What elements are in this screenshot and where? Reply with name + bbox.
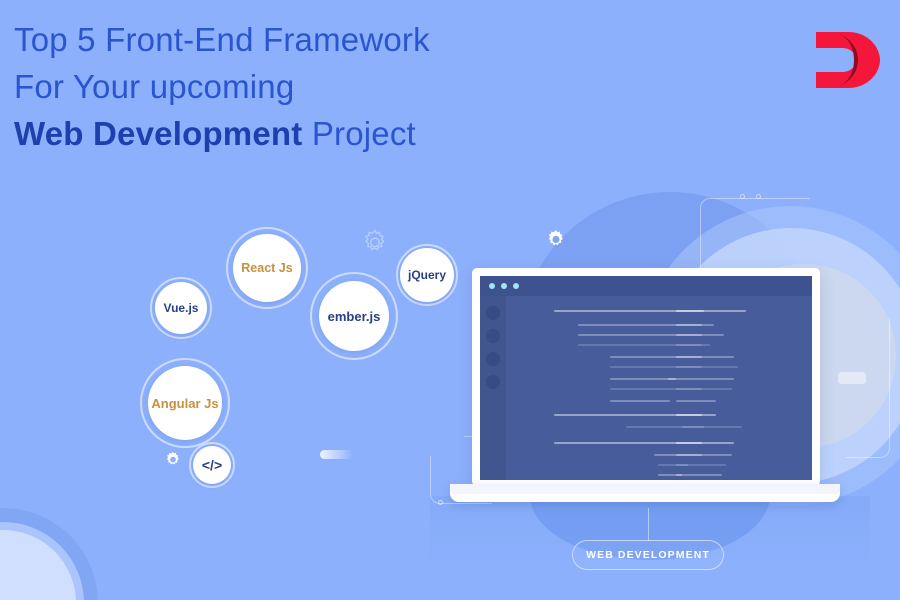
code-symbol-bubble[interactable]: </>	[193, 446, 231, 484]
editor-code-area	[506, 296, 812, 480]
framework-bubble-react[interactable]: React Js	[233, 234, 301, 302]
badge-label: WEB DEVELOPMENT	[586, 549, 710, 561]
framework-bubble-ember[interactable]: ember.js	[319, 281, 389, 351]
window-dot-minimize[interactable]	[501, 283, 507, 289]
gear-icon	[163, 450, 183, 470]
framework-label-jquery: jQuery	[408, 268, 446, 282]
gear-outline-icon	[360, 228, 390, 258]
corner-circle-middle	[0, 522, 84, 600]
window-dot-maximize[interactable]	[513, 283, 519, 289]
badge-connector-line	[648, 508, 649, 541]
editor-sidebar	[480, 296, 506, 480]
circuit-node-b	[756, 194, 761, 199]
headline-line-3: Web Development Project	[14, 110, 634, 157]
code-tag-icon: </>	[202, 457, 222, 473]
dd-monogram-logo[interactable]	[808, 22, 884, 98]
headline-line-3-rest: Project	[302, 115, 415, 152]
framework-label-angular: Angular Js	[151, 396, 218, 411]
circuit-line-right	[846, 318, 890, 458]
framework-label-vue: Vue.js	[164, 301, 199, 315]
framework-label-ember: ember.js	[328, 309, 381, 324]
circuit-node-c	[438, 500, 443, 505]
framework-bubble-jquery[interactable]: jQuery	[400, 248, 454, 302]
laptop-illustration	[450, 268, 840, 503]
laptop-base	[450, 484, 840, 502]
headline-line-1: Top 5 Front-End Framework	[14, 16, 634, 63]
sidebar-item-icon-2[interactable]	[486, 329, 500, 343]
light-streak	[320, 450, 354, 459]
headline-accent: Web Development	[14, 115, 302, 152]
framework-bubble-vue[interactable]: Vue.js	[155, 282, 207, 334]
page-title: Top 5 Front-End Framework For Your upcom…	[14, 16, 634, 157]
code-editor-screen	[480, 276, 812, 480]
framework-label-react: React Js	[241, 261, 292, 275]
circuit-chip	[838, 372, 866, 384]
sidebar-item-icon-1[interactable]	[486, 306, 500, 320]
laptop-screen-frame	[472, 268, 820, 486]
circuit-line-top-right	[700, 198, 810, 268]
window-dot-close[interactable]	[489, 283, 495, 289]
web-development-badge[interactable]: WEB DEVELOPMENT	[572, 540, 724, 570]
poster-canvas: Top 5 Front-End Framework For Your upcom…	[0, 0, 900, 600]
sidebar-item-icon-4[interactable]	[486, 375, 500, 389]
corner-circle-inner	[0, 530, 76, 600]
corner-circle-outer	[0, 508, 98, 600]
circuit-node-a	[740, 194, 745, 199]
editor-title-bar	[480, 276, 812, 296]
gear-icon	[544, 228, 568, 252]
headline-line-2: For Your upcoming	[14, 63, 634, 110]
sidebar-item-icon-3[interactable]	[486, 352, 500, 366]
framework-bubble-angular[interactable]: Angular Js	[148, 366, 222, 440]
